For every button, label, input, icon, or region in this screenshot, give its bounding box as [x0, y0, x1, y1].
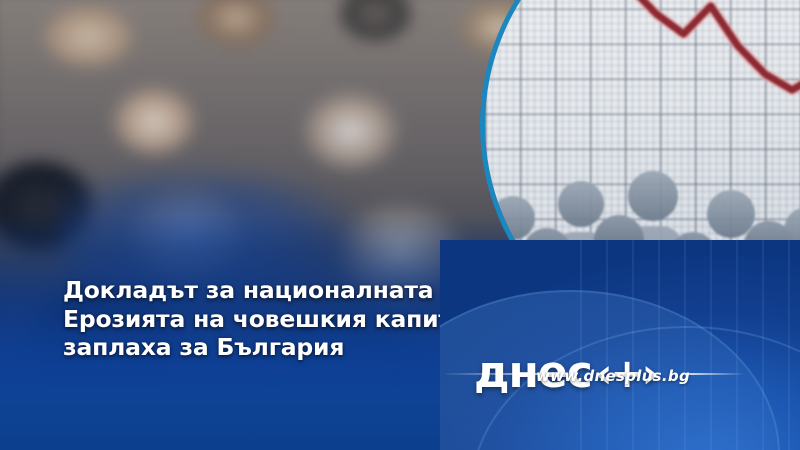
- logo-url: www.dnesplus.bg: [536, 367, 690, 385]
- site-logo[interactable]: днес‹+› www.dnesplus.bg: [474, 351, 764, 395]
- logo-panel: днес‹+› www.dnesplus.bg: [440, 240, 800, 450]
- news-thumbnail: Докладът за националната сигурност: Ероз…: [0, 0, 800, 450]
- logo-panel-stripes: [580, 240, 800, 450]
- logo-rule-right: [686, 373, 742, 375]
